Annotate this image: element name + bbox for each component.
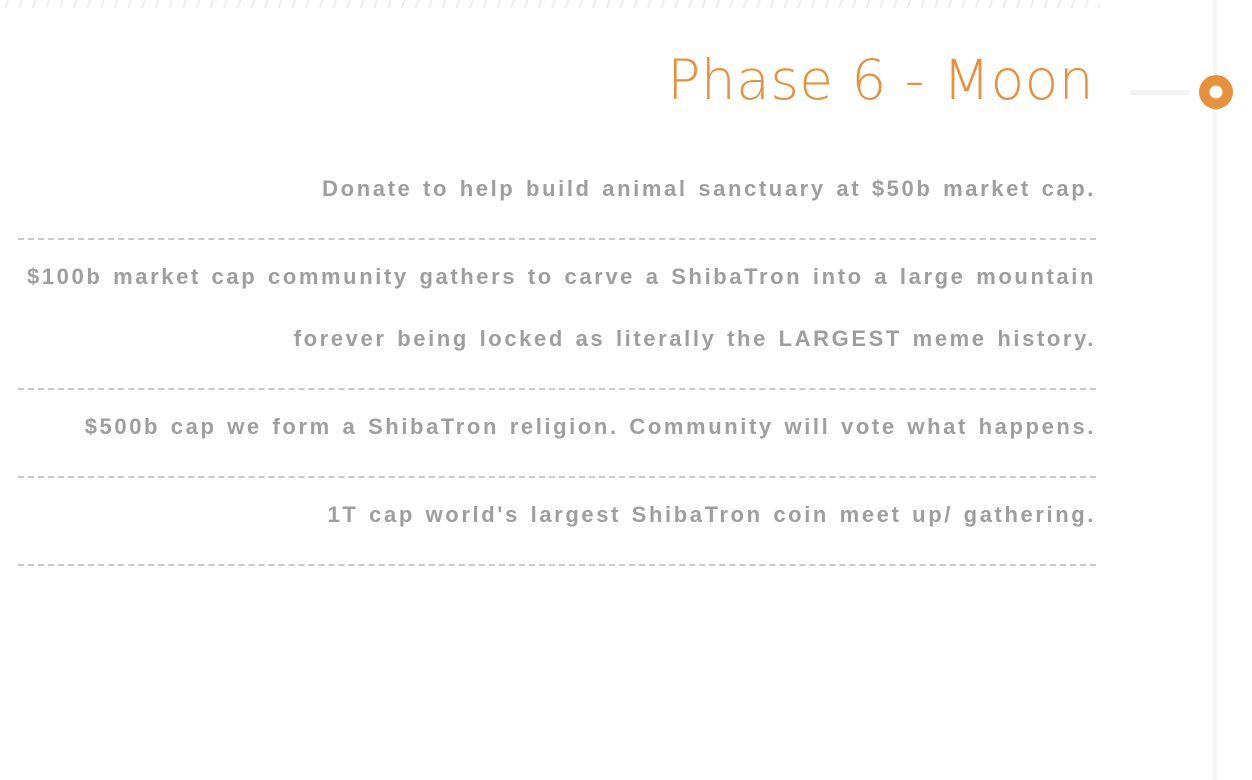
list-item: $100b market cap community gathers to ca… <box>18 240 1096 390</box>
timeline-phase-marker-icon[interactable] <box>1199 75 1233 109</box>
milestone-text: $500b cap we form a ShibaTron religion. … <box>18 390 1096 476</box>
list-item: Donate to help build animal sanctuary at… <box>18 152 1096 240</box>
phase-header: Phase 6 - Moon <box>0 48 1094 112</box>
timeline-connector-line <box>1130 90 1189 95</box>
milestone-text: Donate to help build animal sanctuary at… <box>18 152 1096 238</box>
hatched-pattern-band <box>0 0 1100 8</box>
list-item: 1T cap world's largest ShibaTron coin me… <box>18 478 1096 566</box>
list-item: $500b cap we form a ShibaTron religion. … <box>18 390 1096 478</box>
timeline-vertical-rail <box>1213 0 1217 780</box>
page-title: Phase 6 - Moon <box>667 48 1094 112</box>
milestone-text: 1T cap world's largest ShibaTron coin me… <box>18 478 1096 564</box>
milestone-list: Donate to help build animal sanctuary at… <box>18 152 1096 566</box>
milestone-text: $100b market cap community gathers to ca… <box>18 240 1096 388</box>
